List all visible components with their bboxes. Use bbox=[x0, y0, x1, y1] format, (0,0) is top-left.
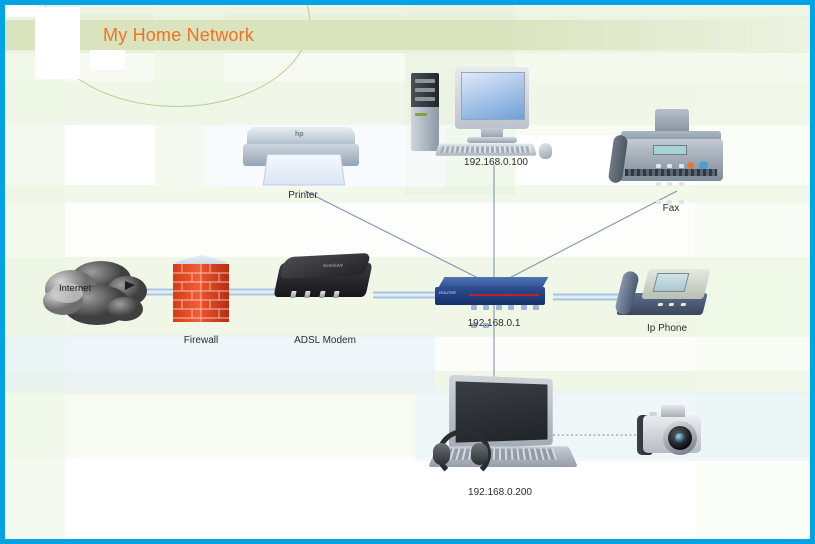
bg-band bbox=[5, 457, 810, 497]
fax-key bbox=[667, 164, 672, 168]
fax-label: Fax bbox=[641, 203, 701, 214]
modem-led bbox=[334, 291, 340, 298]
fax-key bbox=[656, 182, 661, 186]
pc-drive-bay bbox=[415, 88, 435, 92]
router-port bbox=[508, 305, 514, 310]
modem-led bbox=[319, 291, 325, 298]
desktop-pc[interactable] bbox=[411, 67, 561, 163]
camera-lens-glass bbox=[675, 433, 685, 443]
adsl-modem[interactable]: NetGEAR bbox=[277, 255, 377, 305]
pc-drive-bay bbox=[415, 79, 435, 83]
laptop-label: 192.168.0.200 bbox=[450, 487, 550, 498]
printer-brand-logo: hp bbox=[295, 131, 304, 138]
printer[interactable]: hp bbox=[243, 127, 363, 187]
router-port bbox=[533, 305, 539, 310]
printer-paper-tray bbox=[263, 154, 346, 185]
router[interactable]: ROUTER bbox=[435, 277, 553, 311]
fax-stop-button[interactable] bbox=[687, 162, 694, 169]
modem-led bbox=[290, 291, 296, 298]
headphone-cup-left bbox=[433, 443, 450, 465]
pc-monitor-screen bbox=[461, 72, 525, 120]
headphone-cup-right bbox=[471, 443, 488, 465]
internet-cloud-label: Internet bbox=[59, 283, 91, 294]
router-port bbox=[483, 305, 489, 310]
bg-band bbox=[5, 497, 810, 539]
fax-key bbox=[679, 164, 684, 168]
camera-viewfinder-prism bbox=[661, 405, 685, 417]
firewall[interactable] bbox=[173, 255, 229, 325]
fax-display bbox=[653, 145, 687, 155]
printer-label: Printer bbox=[263, 190, 343, 201]
page-title: My Home Network bbox=[103, 25, 254, 46]
header-cutout bbox=[90, 50, 125, 70]
router-port bbox=[471, 305, 477, 310]
pc-monitor-base bbox=[467, 137, 517, 143]
modem-led bbox=[305, 291, 311, 298]
laptop[interactable] bbox=[433, 377, 579, 473]
ip-phone-key bbox=[669, 303, 675, 306]
ip-phone-label: Ip Phone bbox=[631, 323, 703, 334]
firewall-label: Firewall bbox=[161, 335, 241, 346]
router-port bbox=[496, 305, 502, 310]
digital-camera[interactable] bbox=[637, 403, 711, 463]
desktop-pc-label: 192.168.0.100 bbox=[451, 157, 541, 168]
ip-phone-key bbox=[680, 303, 686, 306]
network-diagram-canvas: My Home Network bbox=[0, 0, 815, 544]
ip-phone-display bbox=[653, 273, 690, 292]
ip-phone-key bbox=[657, 303, 663, 306]
brick-pattern bbox=[173, 264, 229, 322]
adsl-modem-label: ADSL Modem bbox=[280, 335, 370, 346]
modem-brand-label: NetGEAR bbox=[322, 263, 343, 268]
router-label: 192.168.0.1 bbox=[454, 318, 534, 329]
fax-key bbox=[679, 182, 684, 186]
header-cutout bbox=[35, 7, 80, 79]
pc-keyboard-keys bbox=[440, 146, 532, 152]
router-red-stripe bbox=[469, 294, 539, 296]
pc-power-button[interactable] bbox=[415, 113, 427, 116]
header-cutout bbox=[5, 5, 37, 17]
router-brand-label: ROUTER bbox=[439, 290, 456, 295]
camera-shutter-button[interactable] bbox=[649, 412, 657, 416]
header-band-fade bbox=[505, 20, 810, 50]
modem-led-row bbox=[289, 285, 346, 303]
ip-phone[interactable] bbox=[619, 263, 715, 319]
router-port bbox=[521, 305, 527, 310]
fax-key bbox=[667, 182, 672, 186]
fax-output-slot bbox=[625, 169, 717, 176]
fax-key bbox=[656, 164, 661, 168]
internet-cloud[interactable]: Internet bbox=[37, 253, 149, 331]
pc-drive-bay bbox=[415, 97, 435, 101]
fax-keypad[interactable] bbox=[655, 156, 685, 210]
cloud-icon bbox=[37, 253, 149, 331]
fax-machine[interactable] bbox=[611, 109, 731, 191]
